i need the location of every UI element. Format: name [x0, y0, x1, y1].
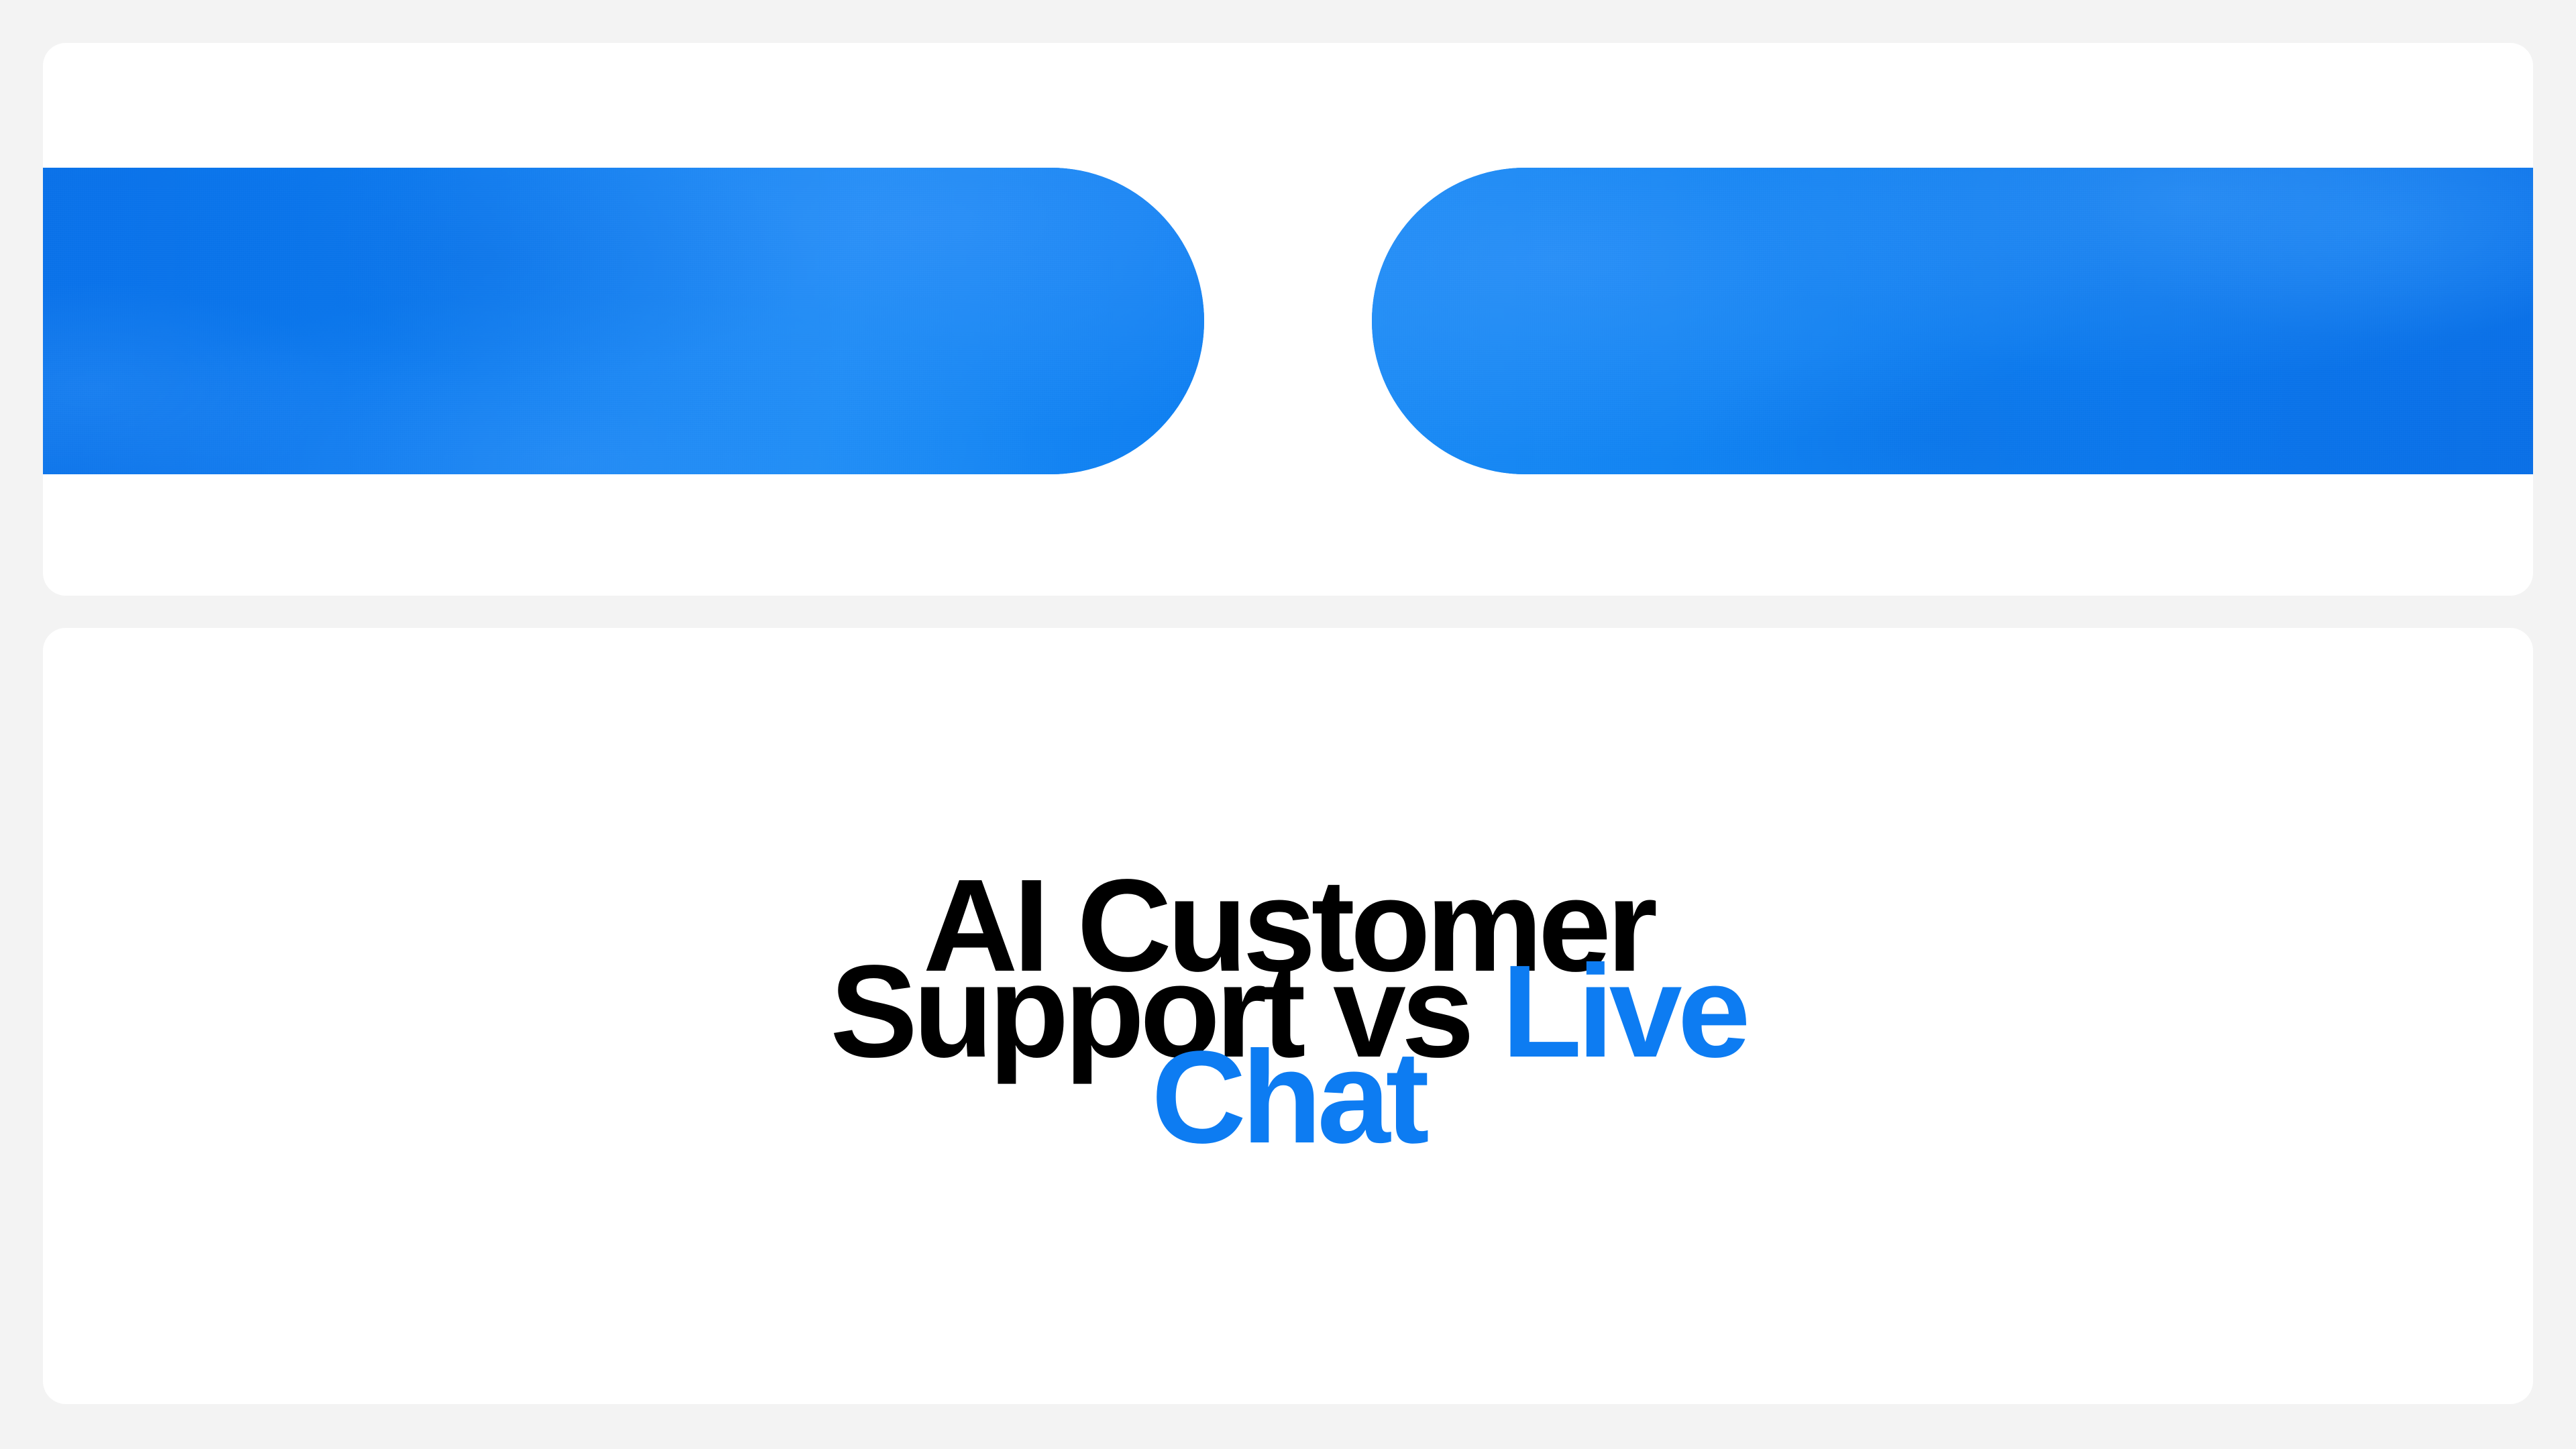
title-line-2-accent: Live — [1501, 938, 1746, 1085]
page-root: AI Customer Support vs Live Chat — [0, 0, 2576, 1449]
pill-left-wash-secondary — [43, 168, 1204, 474]
page-title: AI Customer Support vs Live Chat — [43, 628, 2533, 1404]
title-line-3: Chat — [1151, 1055, 1425, 1140]
banner-card — [43, 43, 2533, 596]
pill-right-wash-secondary — [1372, 168, 2533, 474]
headline-card: AI Customer Support vs Live Chat — [43, 628, 2533, 1404]
title-line-3-accent: Chat — [1151, 1024, 1425, 1171]
blue-pill-band — [43, 168, 2533, 474]
blue-pill-left — [43, 168, 1204, 474]
blue-pill-right — [1372, 168, 2533, 474]
